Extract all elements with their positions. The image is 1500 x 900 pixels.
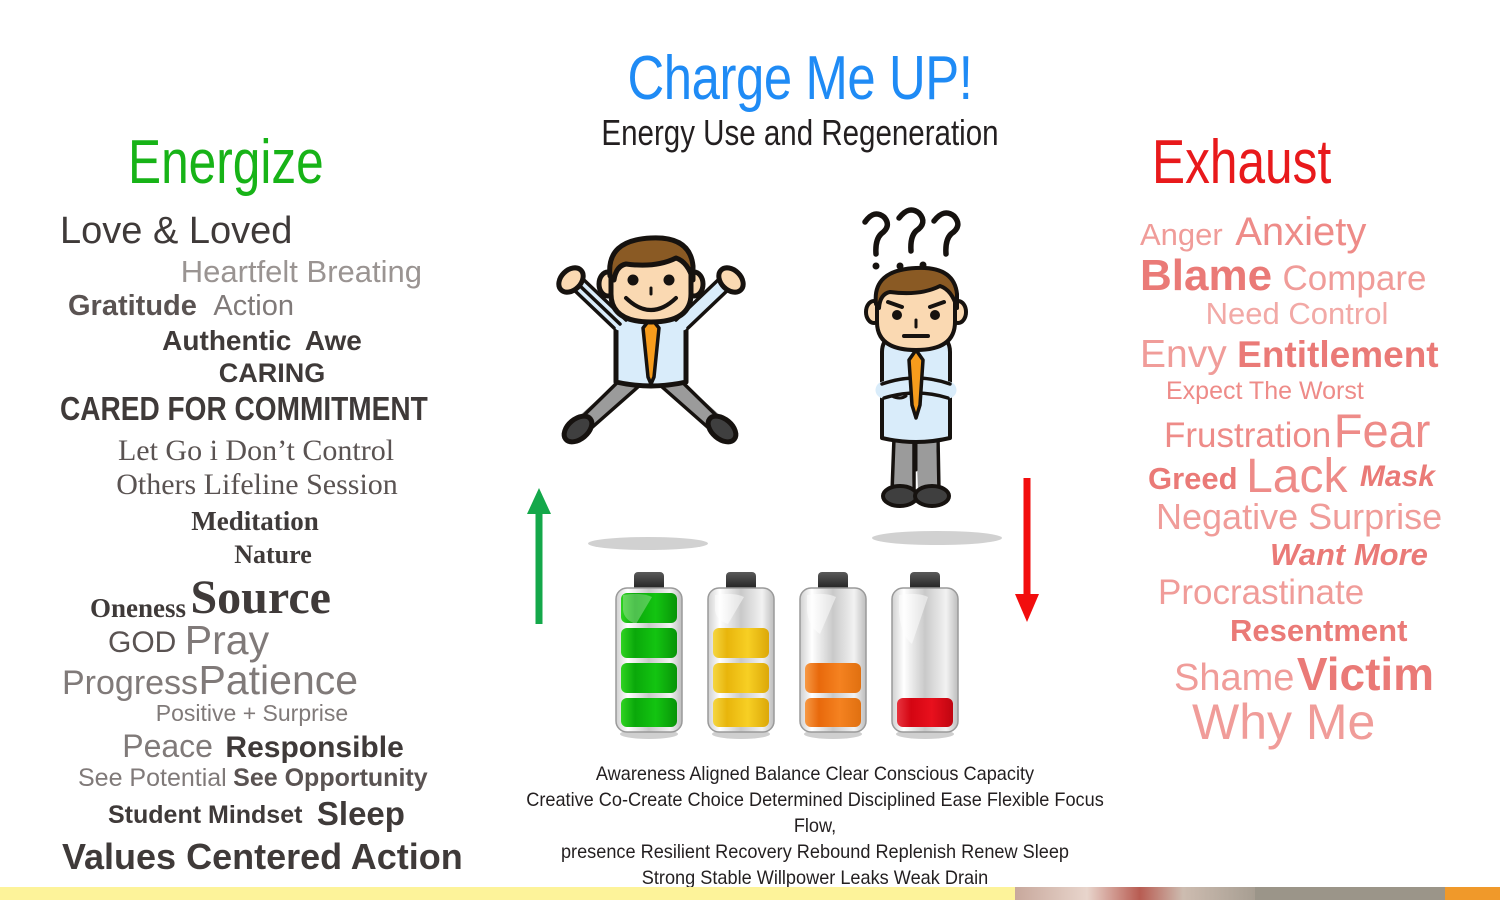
word-oneness: Oneness	[90, 595, 186, 622]
word-mask: Mask	[1360, 462, 1435, 492]
word-envy: Envy	[1140, 335, 1227, 374]
word-nature: Nature	[234, 542, 312, 568]
word-awe: Awe	[305, 327, 362, 355]
word-authentic: Authentic	[162, 327, 291, 355]
battery-full-charge	[612, 568, 686, 745]
strip-photo-sliver	[1015, 887, 1255, 900]
battery-low-charge	[888, 568, 962, 745]
word-entitlement: Entitlement	[1237, 336, 1438, 373]
word-love-loved: Love & Loved	[60, 212, 292, 250]
red-down-arrow	[1012, 478, 1042, 627]
exhaust-word-cloud: Anger Anxiety Blame Compare Need Control…	[1140, 212, 1500, 747]
word-anger: Anger	[1140, 219, 1223, 250]
word-anxiety: Anxiety	[1235, 212, 1366, 252]
energize-heading: Energize	[128, 132, 324, 194]
word-frustration: Frustration	[1164, 418, 1331, 453]
word-blame: Blame	[1140, 254, 1272, 298]
word-fear: Fear	[1334, 407, 1431, 454]
title-block: Charge Me UP! Energy Use and Regeneratio…	[500, 48, 1100, 152]
word-why-me: Why Me	[1192, 697, 1375, 747]
word-positive-surprise: Positive + Surprise	[156, 702, 348, 725]
caption-block: Awareness Aligned Balance Clear Consciou…	[500, 762, 1130, 892]
word-shame: Shame	[1174, 659, 1294, 697]
word-want-more: Want More	[1270, 539, 1428, 570]
word-see-potential: See Potential	[78, 766, 227, 791]
page-title: Charge Me UP!	[554, 48, 1046, 110]
strip-gray-band	[1255, 887, 1445, 900]
battery-half-charge	[796, 568, 870, 745]
caption-line-1: Awareness Aligned Balance Clear Consciou…	[522, 762, 1108, 788]
word-others-lifeline-session: Others Lifeline Session	[116, 470, 398, 500]
word-patience: Patience	[199, 660, 359, 701]
word-negative-surprise: Negative Surprise	[1156, 499, 1442, 535]
word-pray: Pray	[185, 620, 269, 661]
battery-three-quarter-charge	[704, 568, 778, 745]
caption-line-3: presence Resilient Recovery Rebound Repl…	[522, 840, 1108, 866]
word-source: Source	[190, 574, 330, 622]
battery-row	[612, 568, 962, 745]
word-student-mindset: Student Mindset	[108, 803, 302, 828]
word-let-go: Let Go i Don’t Control	[118, 436, 394, 466]
word-progress: Progress	[62, 666, 198, 700]
exhaust-heading: Exhaust	[1152, 132, 1331, 194]
word-compare: Compare	[1283, 261, 1427, 296]
word-caring: CARING	[219, 360, 326, 387]
slide-canvas: Charge Me UP! Energy Use and Regeneratio…	[0, 0, 1500, 900]
caption-line-2: Creative Co-Create Choice Determined Dis…	[522, 788, 1108, 840]
strip-orange-band	[1445, 887, 1500, 900]
question-marks-icon	[865, 210, 958, 254]
word-see-opportunity: See Opportunity	[233, 766, 427, 791]
word-resentment: Resentment	[1230, 615, 1407, 646]
word-god: GOD	[108, 628, 176, 658]
frustrated-person-shadow	[872, 531, 1002, 545]
word-heartfelt-breating: Heartfelt Breating	[181, 256, 422, 287]
word-peace: Peace	[122, 730, 213, 762]
green-up-arrow	[524, 488, 554, 629]
word-cared-for-commitment: CARED FOR COMMITMENT	[60, 392, 428, 425]
word-procrastinate: Procrastinate	[1158, 575, 1364, 610]
happy-businessman	[556, 232, 746, 467]
frustrated-businessman	[852, 200, 1012, 555]
energize-word-cloud: Love & Loved Heartfelt Breating Gratitud…	[60, 212, 440, 873]
word-lack: Lack	[1246, 453, 1347, 501]
page-subtitle: Energy Use and Regeneration	[554, 114, 1046, 152]
next-slide-sliver	[0, 887, 1500, 900]
word-responsible: Responsible	[225, 733, 403, 763]
word-sleep: Sleep	[317, 797, 405, 830]
word-expect-the-worst: Expect The Worst	[1166, 379, 1364, 404]
word-need-control: Need Control	[1206, 298, 1389, 329]
strip-yellow-band	[0, 887, 1015, 900]
word-action: Action	[213, 292, 294, 321]
word-values-centered-action: Values Centered Action	[62, 839, 463, 875]
word-meditation: Meditation	[191, 508, 319, 535]
word-greed: Greed	[1148, 463, 1238, 494]
word-gratitude: Gratitude	[68, 292, 197, 321]
word-victim: Victim	[1297, 651, 1434, 697]
happy-person-shadow	[588, 537, 708, 550]
